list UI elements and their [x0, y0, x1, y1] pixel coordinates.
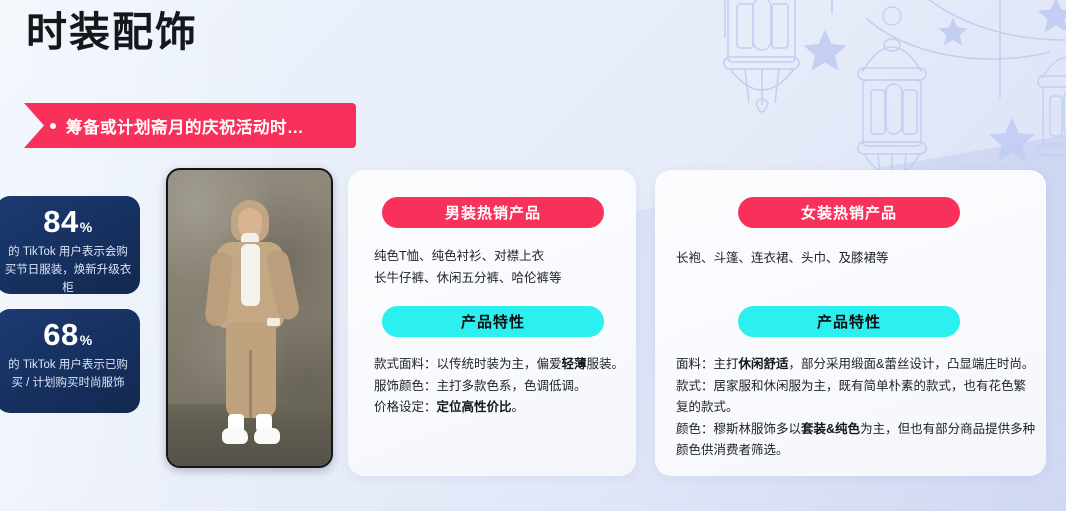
feature-line: 款式面料：以传统时装为主，偏爱轻薄服装。: [374, 354, 626, 376]
womens-products-list: 长袍、斗篷、连衣裙、头巾、及膝裙等: [676, 248, 1006, 270]
feature-line: 价格设定：定位高性价比。: [374, 397, 626, 419]
feature-highlight: 套装&纯色: [801, 422, 860, 436]
stat-percent-sign: %: [80, 332, 93, 348]
feature-label: 款式面料：: [374, 357, 437, 371]
ribbon-label: 筹备或计划斋月的庆祝活动时…: [66, 114, 304, 138]
product-line: 长牛仔裤、休闲五分裤、哈伦裤等: [374, 268, 624, 290]
product-line: 纯色T恤、纯色衬衫、对襟上衣: [374, 246, 624, 268]
slide-canvas: 时装配饰 筹备或计划斋月的庆祝活动时… 84% 的 TikTok 用户表示会购买…: [0, 0, 1066, 511]
stat-number: 84: [43, 204, 78, 239]
dot-icon: [50, 123, 56, 129]
feature-text: 穆斯林服饰多以: [714, 422, 802, 436]
lantern-icon: [1038, 58, 1066, 155]
womens-features-list: 面料：主打休闲舒适，部分采用缎面&蕾丝设计，凸显端庄时尚。款式：居家服和休闲服为…: [676, 354, 1036, 462]
mens-features-header: 产品特性: [382, 306, 604, 337]
star-icon: [989, 118, 1035, 161]
star-icon: [938, 18, 967, 46]
stat-value: 84%: [4, 206, 132, 237]
feature-label: 款式：: [676, 379, 714, 393]
lantern-icon: [724, 0, 799, 112]
stat-percent-sign: %: [80, 219, 93, 235]
page-title: 时装配饰: [26, 8, 198, 57]
feature-line: 面料：主打休闲舒适，部分采用缎面&蕾丝设计，凸显端庄时尚。: [676, 354, 1036, 376]
womens-features-header: 产品特性: [738, 306, 960, 337]
feature-highlight: 休闲舒适: [739, 357, 789, 371]
model-figure: [204, 200, 296, 452]
fashion-model-photo: [166, 168, 333, 468]
womens-hot-products-header: 女装热销产品: [738, 197, 960, 228]
feature-line: 颜色：穆斯林服饰多以套装&纯色为主，但也有部分商品提供多种颜色供消费者筛选。: [676, 419, 1036, 462]
mens-products-list: 纯色T恤、纯色衬衫、对襟上衣长牛仔裤、休闲五分裤、哈伦裤等: [374, 246, 624, 289]
feature-text: 服装。: [587, 357, 625, 371]
stat-number: 68: [43, 317, 78, 352]
feature-label: 颜色：: [676, 422, 714, 436]
section-ribbon-banner: 筹备或计划斋月的庆祝活动时…: [24, 103, 356, 148]
star-icon: [1038, 0, 1066, 32]
feature-label: 服饰颜色：: [374, 379, 437, 393]
feature-line: 服饰颜色：主打多款色系，色调低调。: [374, 376, 626, 398]
feature-text: 。: [512, 400, 525, 414]
feature-text: 以传统时装为主，偏爱: [437, 357, 562, 371]
feature-highlight: 定位高性价比: [437, 400, 512, 414]
feature-label: 价格设定：: [374, 400, 437, 414]
feature-label: 面料：: [676, 357, 714, 371]
mens-hot-products-header: 男装热销产品: [382, 197, 604, 228]
mens-features-list: 款式面料：以传统时装为主，偏爱轻薄服装。服饰颜色：主打多款色系，色调低调。价格设…: [374, 354, 626, 419]
stat-description: 的 TikTok 用户表示会购买节日服装，焕新升级衣柜: [4, 244, 132, 297]
stat-card-68: 68% 的 TikTok 用户表示已购买 / 计划购买时尚服饰: [0, 309, 140, 413]
stat-value: 68%: [4, 319, 132, 350]
moon-arc-icon: [866, 18, 1050, 59]
feature-line: 款式：居家服和休闲服为主，既有简单朴素的款式，也有花色繁复的款式。: [676, 376, 1036, 419]
feature-text: 居家服和休闲服为主，既有简单朴素的款式，也有花色繁复的款式。: [676, 379, 1026, 415]
product-line: 长袍、斗篷、连衣裙、头巾、及膝裙等: [676, 248, 1006, 270]
feature-text: ，部分采用缎面&蕾丝设计，凸显端庄时尚。: [789, 357, 1035, 371]
moon-arc-icon: [900, 0, 1066, 40]
feature-text: 主打多款色系，色调低调。: [437, 379, 587, 393]
feature-text: 主打: [714, 357, 739, 371]
stat-card-84: 84% 的 TikTok 用户表示会购买节日服装，焕新升级衣柜: [0, 196, 140, 294]
feature-highlight: 轻薄: [562, 357, 587, 371]
star-icon: [804, 30, 847, 71]
stat-description: 的 TikTok 用户表示已购买 / 计划购买时尚服饰: [4, 357, 132, 393]
